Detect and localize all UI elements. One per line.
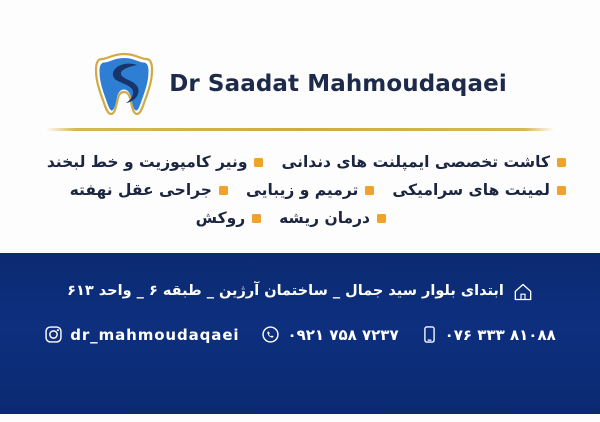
address-block: ابتدای بلوار سید جمال _ ساختمان آرژین _ …: [0, 281, 600, 306]
bullet-icon: [557, 158, 566, 167]
service-item: لمینت های سرامیكی: [392, 181, 566, 199]
services-line: درمان ریشه روكش: [34, 204, 566, 232]
instagram-handle: dr_mahmoudaqaei: [70, 326, 239, 344]
mobile-phone-icon: [421, 325, 438, 344]
service-item: درمان ریشه: [279, 209, 386, 227]
service-item: روكش: [196, 209, 261, 227]
service-label: درمان ریشه: [279, 209, 370, 227]
brand-header: Dr Saadat Mahmoudaqaei: [0, 48, 600, 120]
bullet-icon: [377, 214, 386, 223]
instagram-icon: [44, 325, 63, 344]
service-label: كاشت تخصصی ایمپلنت های دندانی: [281, 153, 550, 171]
services-list: كاشت تخصصی ایمپلنت های دندانی ونیر كامپو…: [34, 148, 566, 232]
service-label: جراحی عقل نهفته: [70, 181, 212, 199]
service-item: جراحی عقل نهفته: [70, 181, 228, 199]
bullet-icon: [557, 186, 566, 195]
instagram-contact[interactable]: dr_mahmoudaqaei: [44, 325, 239, 344]
service-label: لمینت های سرامیكی: [392, 181, 550, 199]
bottom-strip: [0, 414, 600, 422]
address-text: ابتدای بلوار سید جمال _ ساختمان آرژین _ …: [67, 281, 504, 302]
bullet-icon: [252, 214, 261, 223]
bullet-icon: [365, 186, 374, 195]
service-label: روكش: [196, 209, 245, 227]
services-line: كاشت تخصصی ایمپلنت های دندانی ونیر كامپو…: [34, 148, 566, 176]
phone-number: ۰۷۶ ۳۳۳ ۸۱۰۸۸: [445, 326, 556, 344]
bullet-icon: [219, 186, 228, 195]
phone-contact[interactable]: ۰۷۶ ۳۳۳ ۸۱۰۸۸: [421, 325, 556, 344]
whatsapp-number: ۰۹۲۱ ۷۵۸ ۷۲۳۷: [287, 326, 398, 344]
home-icon: [513, 282, 533, 302]
services-line: لمینت های سرامیكی ترمیم و زیبایی جراحی ع…: [34, 176, 566, 204]
service-item: ونیر كامپوزیت و خط لبخند: [47, 153, 264, 171]
page-title: Dr Saadat Mahmoudaqaei: [169, 71, 507, 97]
bullet-icon: [254, 158, 263, 167]
service-label: ترمیم و زیبایی: [246, 181, 358, 199]
tooth-logo-icon: [93, 51, 155, 117]
service-item: ترمیم و زیبایی: [246, 181, 374, 199]
gold-divider: [45, 128, 555, 131]
service-item: كاشت تخصصی ایمپلنت های دندانی: [281, 153, 566, 171]
whatsapp-contact[interactable]: ۰۹۲۱ ۷۵۸ ۷۲۳۷: [261, 325, 398, 344]
business-card: Dr Saadat Mahmoudaqaei كاشت تخصصی ایمپلن…: [0, 0, 600, 422]
whatsapp-icon: [261, 325, 280, 344]
service-label: ونیر كامپوزیت و خط لبخند: [47, 153, 248, 171]
contacts-row: dr_mahmoudaqaei ۰۹۲۱ ۷۵۸ ۷۲۳۷ ۰۷۶ ۳۳۳ ۸۱…: [0, 325, 600, 344]
